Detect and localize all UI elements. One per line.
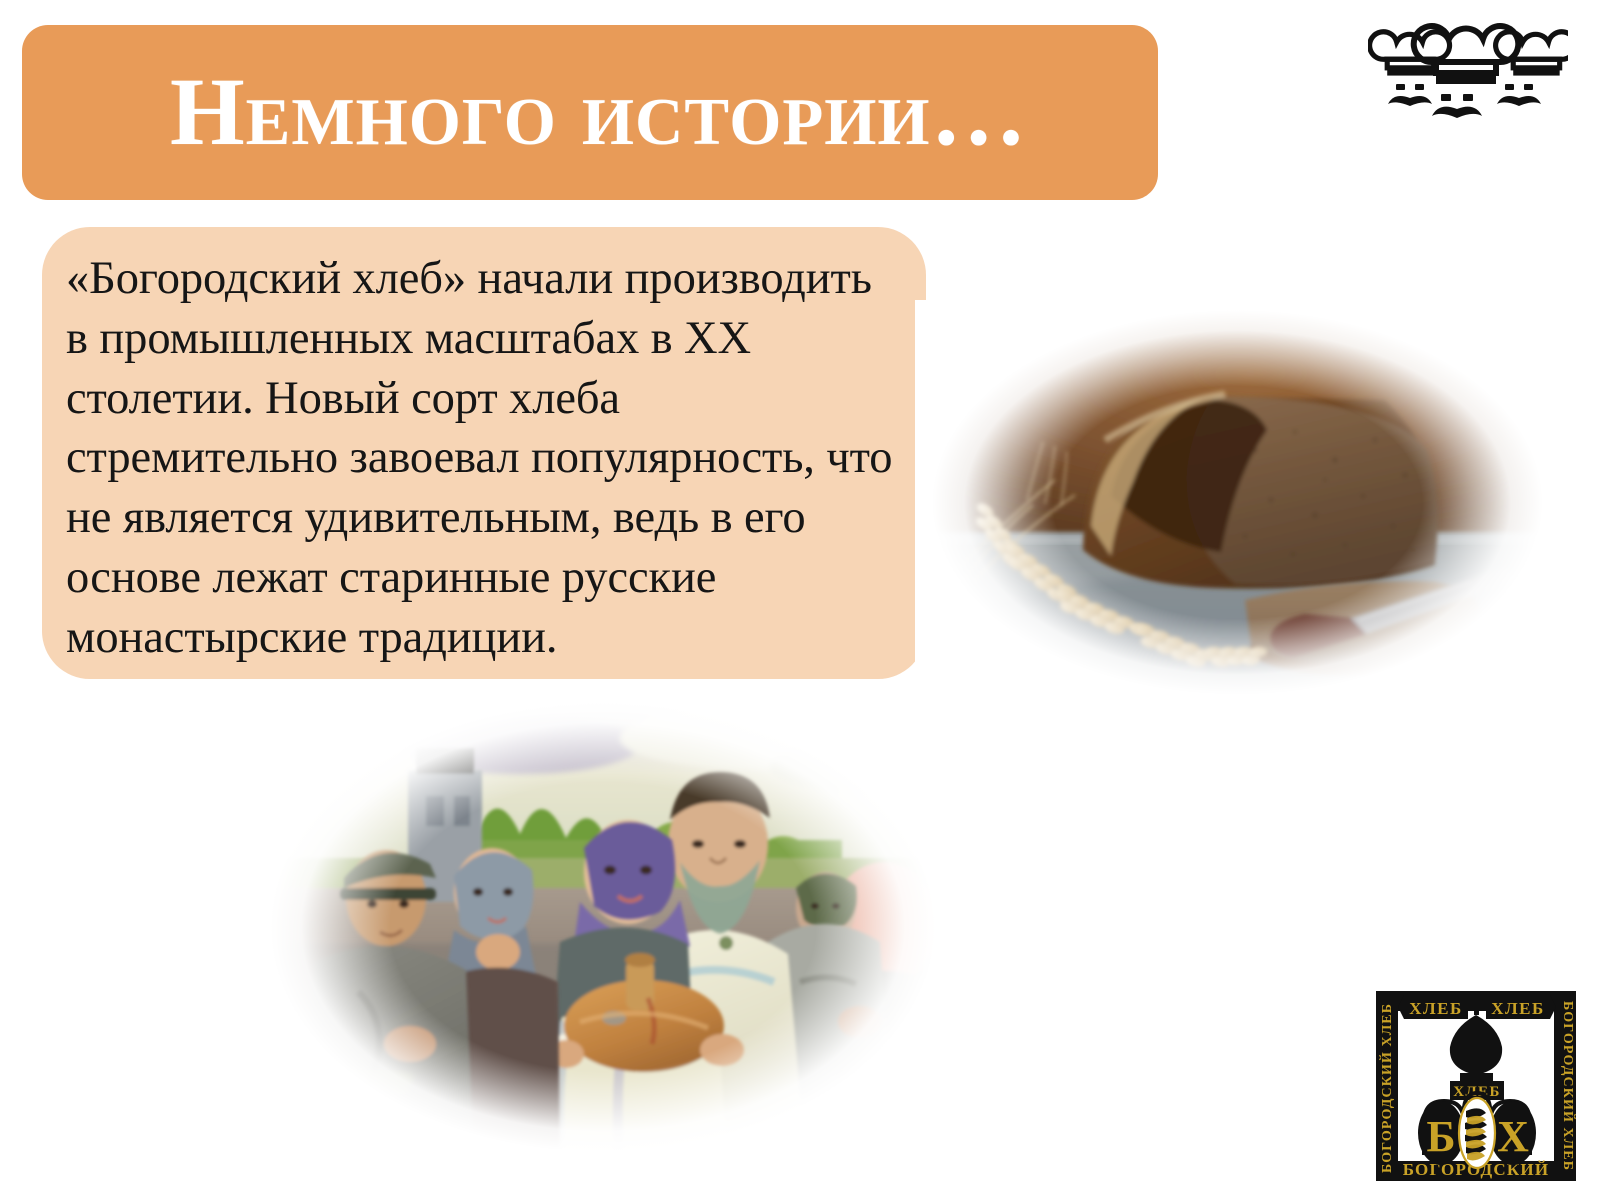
logo-top-right-word: ХЛЕБ [1491, 999, 1545, 1018]
body-text-card: «Богородский хлеб» начали производить в … [42, 227, 926, 679]
logo-border-left: БОГОРОДСКИЙ ХЛЕБ [1378, 1003, 1395, 1173]
rye-bread-photo [915, 300, 1560, 705]
title-banner: Немного истории… [22, 25, 1158, 200]
page-title: Немного истории… [22, 62, 1027, 163]
logo-bread-icon [1459, 1098, 1495, 1168]
bread-and-salt-painting [240, 692, 966, 1162]
logo-border-right: БОГОРОДСКИЙ ХЛЕБ [1560, 1001, 1577, 1171]
slide: Немного истории… [0, 0, 1600, 1200]
chef-hats-icon [1368, 22, 1568, 122]
body-paragraph: «Богородский хлеб» начали производить в … [66, 249, 896, 667]
painting-canvas [240, 692, 966, 1162]
rye-bread-photo-canvas [915, 300, 1560, 705]
logo-monogram-left: Б [1426, 1112, 1455, 1161]
logo-top-left-word: ХЛЕБ [1409, 999, 1463, 1018]
logo-monogram-right: Х [1497, 1112, 1529, 1161]
bogorodsky-khleb-logo: БОГОРОДСКИЙ БОГОРОДСКИЙ ХЛЕБ БОГОРОДСКИЙ… [1368, 985, 1586, 1185]
